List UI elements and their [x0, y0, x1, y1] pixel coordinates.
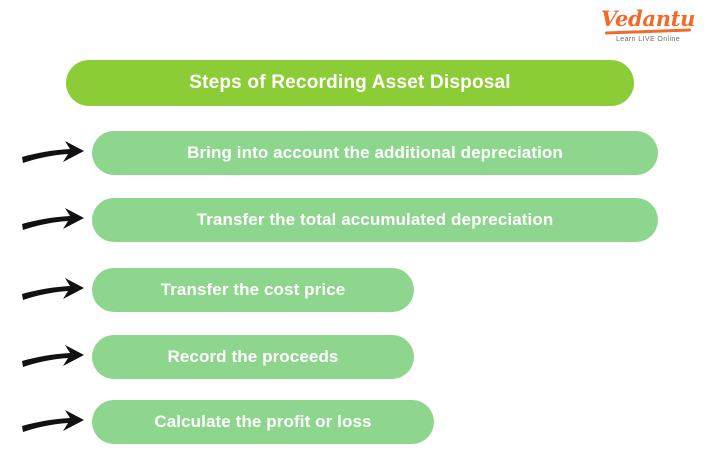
step-row: Record the proceeds	[20, 335, 414, 379]
logo-tagline: Learn LIVE Online	[594, 36, 702, 43]
step-pill-5: Calculate the profit or loss	[92, 400, 434, 444]
arrow-right-icon	[20, 198, 92, 242]
step-label: Transfer the total accumulated depreciat…	[197, 210, 554, 230]
step-label: Transfer the cost price	[161, 280, 346, 300]
arrow-right-icon	[20, 400, 92, 444]
step-pill-3: Transfer the cost price	[92, 268, 414, 312]
vedantu-logo: Vedantu Learn LIVE Online	[594, 8, 702, 43]
step-label: Record the proceeds	[167, 347, 338, 367]
step-row: Transfer the cost price	[20, 268, 414, 312]
step-label: Bring into account the additional deprec…	[187, 143, 563, 163]
logo-wordmark: Vedantu	[594, 8, 702, 29]
step-pill-4: Record the proceeds	[92, 335, 414, 379]
step-row: Calculate the profit or loss	[20, 400, 434, 444]
diagram-title-pill: Steps of Recording Asset Disposal	[66, 60, 634, 106]
step-pill-1: Bring into account the additional deprec…	[92, 131, 658, 175]
page-title: Steps of Recording Asset Disposal	[189, 72, 511, 94]
step-pill-2: Transfer the total accumulated depreciat…	[92, 198, 658, 242]
arrow-right-icon	[20, 335, 92, 379]
step-row: Transfer the total accumulated depreciat…	[20, 198, 658, 242]
step-label: Calculate the profit or loss	[154, 412, 371, 432]
arrow-right-icon	[20, 268, 92, 312]
step-row: Bring into account the additional deprec…	[20, 131, 658, 175]
arrow-right-icon	[20, 131, 92, 175]
diagram-canvas: Vedantu Learn LIVE Online Steps of Recor…	[0, 0, 720, 472]
